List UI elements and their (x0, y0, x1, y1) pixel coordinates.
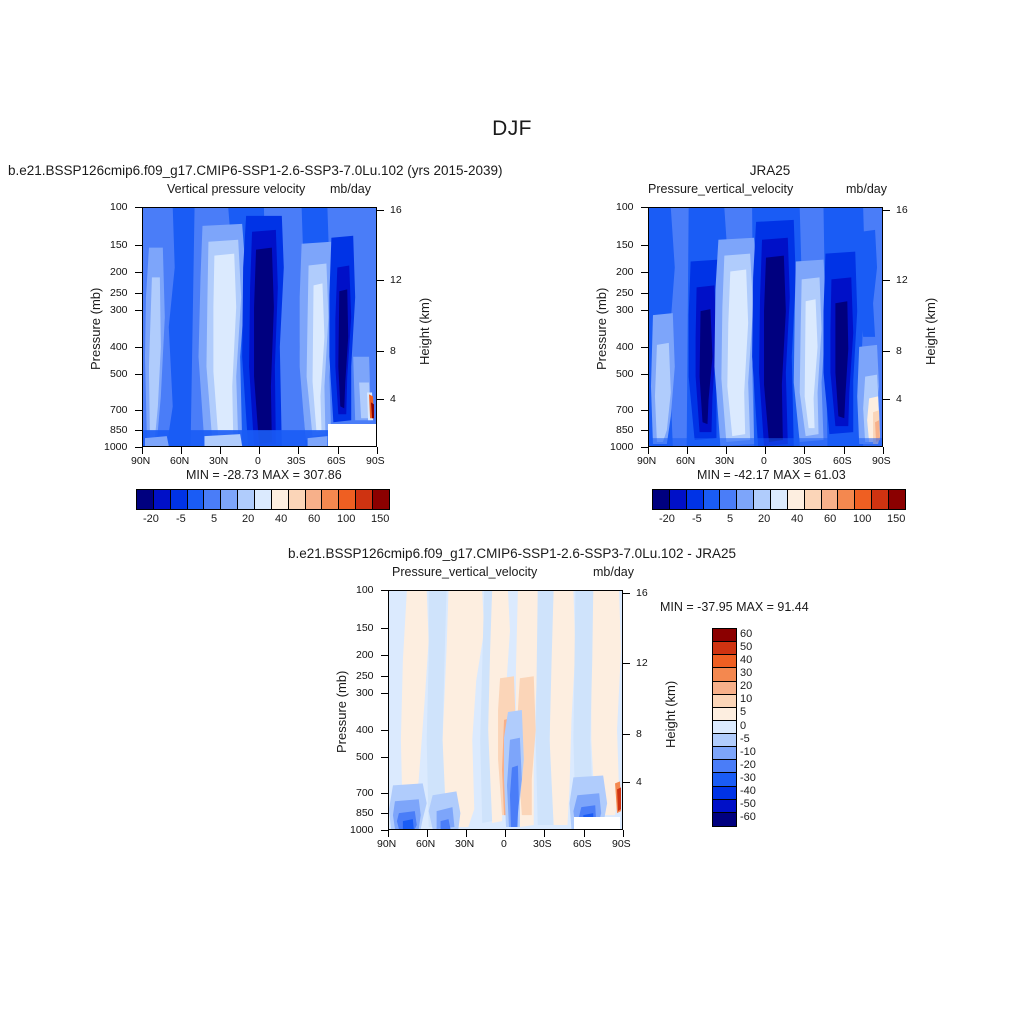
xtick-label: 30N (455, 838, 474, 850)
panel-obs-minmax: MIN = -42.17 MAX = 61.03 (697, 468, 846, 482)
panel-model-units-label: mb/day (330, 182, 371, 196)
colorbar-cell-1 (670, 490, 687, 509)
ytick-label: 400 (110, 341, 128, 353)
panel-difference-case-title: b.e21.BSSP126cmip6.f09_g17.CMIP6-SSP1-2.… (212, 546, 812, 561)
ytick-label: 700 (616, 404, 634, 416)
y2tick-label: 16 (896, 204, 908, 216)
panel-difference-units-label: mb/day (593, 565, 634, 579)
ytick-label: 700 (110, 404, 128, 416)
colorbar-tick-label: 5 (211, 513, 217, 525)
xtick-label: 60S (573, 838, 592, 850)
colorbar-tick-label: 60 (740, 628, 752, 640)
ytick-label: 100 (356, 584, 374, 596)
colorbar-tick-label: 20 (740, 680, 752, 692)
ytick-label: 100 (110, 201, 128, 213)
y2tick-label: 8 (896, 345, 902, 357)
colorbar-cell-10 (306, 490, 323, 509)
colorbar-cell-11 (838, 490, 855, 509)
colorbar-cell-14 (713, 813, 736, 826)
ytick-label: 400 (356, 724, 374, 736)
ytick-label: 150 (616, 239, 634, 251)
xtick-label: 60S (833, 455, 852, 467)
ytick-label: 1000 (350, 824, 373, 836)
colorbar-cell-6 (713, 708, 736, 721)
ytick-label: 250 (356, 670, 374, 682)
xtick-label: 90N (131, 455, 150, 467)
panel-difference-contour-field (389, 591, 622, 829)
colorbar-cell-13 (872, 490, 889, 509)
colorbar-cell-5 (737, 490, 754, 509)
ytick-label: 300 (616, 304, 634, 316)
panel-obs-plot-area (648, 207, 883, 447)
colorbar-tick-label: -50 (740, 798, 756, 810)
colorbar-tick-label: 40 (791, 513, 803, 525)
ytick-label: 150 (356, 622, 374, 634)
colorbar-tick-label: -5 (740, 733, 750, 745)
y2tick-label: 16 (636, 587, 648, 599)
colorbar-cell-2 (171, 490, 188, 509)
colorbar-cell-6 (754, 490, 771, 509)
y2tick-label: 8 (636, 728, 642, 740)
panel-model-yaxis-left-name: Pressure (mb) (88, 288, 103, 370)
colorbar-cell-7 (713, 721, 736, 734)
panel-difference-minmax: MIN = -37.95 MAX = 91.44 (660, 600, 809, 614)
colorbar-tick-label: 150 (887, 513, 905, 525)
colorbar-cell-0 (713, 629, 736, 642)
panel-obs-colorbar[interactable] (652, 489, 906, 510)
xtick-label: 0 (761, 455, 767, 467)
colorbar-cell-11 (322, 490, 339, 509)
colorbar-tick-label: 40 (740, 654, 752, 666)
colorbar-cell-2 (713, 655, 736, 668)
xtick-label: 90N (637, 455, 656, 467)
colorbar-cell-0 (137, 490, 154, 509)
y2tick-label: 4 (896, 393, 902, 405)
xtick-label: 90S (612, 838, 631, 850)
colorbar-tick-label: -5 (176, 513, 186, 525)
colorbar-cell-9 (805, 490, 822, 509)
colorbar-cell-4 (720, 490, 737, 509)
colorbar-tick-label: 100 (337, 513, 355, 525)
colorbar-cell-6 (238, 490, 255, 509)
panel-model-variable-label: Vertical pressure velocity (167, 182, 305, 196)
panel-difference-yaxis-right-name: Height (km) (663, 681, 678, 748)
xtick-label: 30S (793, 455, 812, 467)
xtick-label: 30N (209, 455, 228, 467)
colorbar-cell-12 (855, 490, 872, 509)
panel-model-plot-area (142, 207, 377, 447)
ytick-label: 850 (356, 807, 374, 819)
ytick-label: 250 (110, 287, 128, 299)
xtick-label: 60N (676, 455, 695, 467)
colorbar-tick-label: -30 (740, 772, 756, 784)
xtick-label: 90N (377, 838, 396, 850)
y2tick-label: 8 (390, 345, 396, 357)
y2tick-label: 12 (636, 657, 648, 669)
colorbar-cell-3 (188, 490, 205, 509)
xtick-label: 60N (170, 455, 189, 467)
ytick-label: 300 (356, 687, 374, 699)
colorbar-tick-label: 40 (275, 513, 287, 525)
colorbar-cell-11 (713, 773, 736, 786)
ytick-label: 700 (356, 787, 374, 799)
xtick-label: 30S (287, 455, 306, 467)
colorbar-tick-label: 50 (740, 641, 752, 653)
ytick-label: 250 (616, 287, 634, 299)
colorbar-cell-7 (771, 490, 788, 509)
ytick-label: 850 (110, 424, 128, 436)
colorbar-cell-12 (713, 787, 736, 800)
ytick-label: 400 (616, 341, 634, 353)
panel-obs-yaxis-right-name: Height (km) (923, 298, 938, 365)
colorbar-tick-label: -40 (740, 785, 756, 797)
ytick-label: 200 (110, 266, 128, 278)
colorbar-tick-label: 60 (308, 513, 320, 525)
colorbar-cell-5 (221, 490, 238, 509)
ytick-label: 200 (616, 266, 634, 278)
colorbar-cell-9 (289, 490, 306, 509)
colorbar-cell-1 (154, 490, 171, 509)
colorbar-cell-5 (713, 695, 736, 708)
panel-difference-yaxis-left-name: Pressure (mb) (334, 671, 349, 753)
colorbar-tick-label: -20 (143, 513, 159, 525)
colorbar-cell-14 (373, 490, 389, 509)
colorbar-cell-1 (713, 642, 736, 655)
ytick-label: 150 (110, 239, 128, 251)
ytick-label: 500 (110, 368, 128, 380)
colorbar-tick-label: 30 (740, 667, 752, 679)
ytick-label: 1000 (104, 441, 127, 453)
colorbar-cell-3 (713, 668, 736, 681)
panel-obs-units-label: mb/day (846, 182, 887, 196)
colorbar-cell-12 (339, 490, 356, 509)
colorbar-cell-13 (713, 800, 736, 813)
panel-model-minmax: MIN = -28.73 MAX = 307.86 (186, 468, 342, 482)
xtick-label: 60S (327, 455, 346, 467)
panel-obs-yaxis-left-name: Pressure (mb) (594, 288, 609, 370)
colorbar-cell-2 (687, 490, 704, 509)
panel-obs-variable-label: Pressure_vertical_velocity (648, 182, 793, 196)
panel-difference-variable-label: Pressure_vertical_velocity (392, 565, 537, 579)
ytick-label: 1000 (610, 441, 633, 453)
colorbar-cell-10 (822, 490, 839, 509)
ytick-label: 500 (616, 368, 634, 380)
xtick-label: 90S (872, 455, 891, 467)
panel-obs: JRA25 Pressure_vertical_velocity mb/day (520, 0, 1024, 540)
colorbar-tick-label: 100 (853, 513, 871, 525)
colorbar-cell-0 (653, 490, 670, 509)
colorbar-cell-14 (889, 490, 905, 509)
ytick-label: 500 (356, 751, 374, 763)
panel-difference-colorbar[interactable] (712, 628, 737, 827)
colorbar-tick-label: 5 (740, 706, 746, 718)
xtick-label: 0 (255, 455, 261, 467)
colorbar-cell-4 (713, 682, 736, 695)
ytick-label: 200 (356, 649, 374, 661)
colorbar-tick-label: 20 (758, 513, 770, 525)
panel-difference: b.e21.BSSP126cmip6.f09_g17.CMIP6-SSP1-2.… (0, 540, 1024, 880)
panel-obs-contour-field (649, 208, 882, 446)
colorbar-tick-label: -20 (659, 513, 675, 525)
panel-model-colorbar[interactable] (136, 489, 390, 510)
colorbar-cell-4 (204, 490, 221, 509)
colorbar-cell-10 (713, 760, 736, 773)
y2tick-label: 16 (390, 204, 402, 216)
colorbar-tick-label: -60 (740, 811, 756, 823)
y2tick-label: 4 (390, 393, 396, 405)
panel-model-case-title: b.e21.BSSP126cmip6.f09_g17.CMIP6-SSP1-2.… (8, 163, 503, 178)
colorbar-cell-3 (704, 490, 721, 509)
colorbar-tick-label: 10 (740, 693, 752, 705)
colorbar-tick-label: 60 (824, 513, 836, 525)
colorbar-tick-label: 5 (727, 513, 733, 525)
colorbar-tick-label: 0 (740, 720, 746, 732)
xtick-label: 30S (533, 838, 552, 850)
colorbar-tick-label: 150 (371, 513, 389, 525)
panel-obs-case-title: JRA25 (670, 163, 870, 178)
colorbar-tick-label: -10 (740, 746, 756, 758)
ytick-label: 100 (616, 201, 634, 213)
colorbar-cell-8 (788, 490, 805, 509)
colorbar-cell-8 (713, 734, 736, 747)
colorbar-cell-8 (272, 490, 289, 509)
colorbar-tick-label: 20 (242, 513, 254, 525)
panel-difference-surface-mask (574, 817, 620, 830)
y2tick-label: 12 (390, 274, 402, 286)
colorbar-cell-9 (713, 747, 736, 760)
xtick-label: 30N (715, 455, 734, 467)
colorbar-tick-label: -5 (692, 513, 702, 525)
panel-model: b.e21.BSSP126cmip6.f09_g17.CMIP6-SSP1-2.… (0, 0, 470, 540)
colorbar-cell-13 (356, 490, 373, 509)
y2tick-label: 4 (636, 776, 642, 788)
ytick-label: 850 (616, 424, 634, 436)
panel-model-yaxis-right-name: Height (km) (417, 298, 432, 365)
panel-model-surface-mask (328, 424, 377, 447)
colorbar-cell-7 (255, 490, 272, 509)
panel-difference-plot-area (388, 590, 623, 830)
xtick-label: 60N (416, 838, 435, 850)
xtick-label: 90S (366, 455, 385, 467)
xtick-label: 0 (501, 838, 507, 850)
panel-model-contour-field (143, 208, 376, 446)
ytick-label: 300 (110, 304, 128, 316)
y2tick-label: 12 (896, 274, 908, 286)
colorbar-tick-label: -20 (740, 759, 756, 771)
